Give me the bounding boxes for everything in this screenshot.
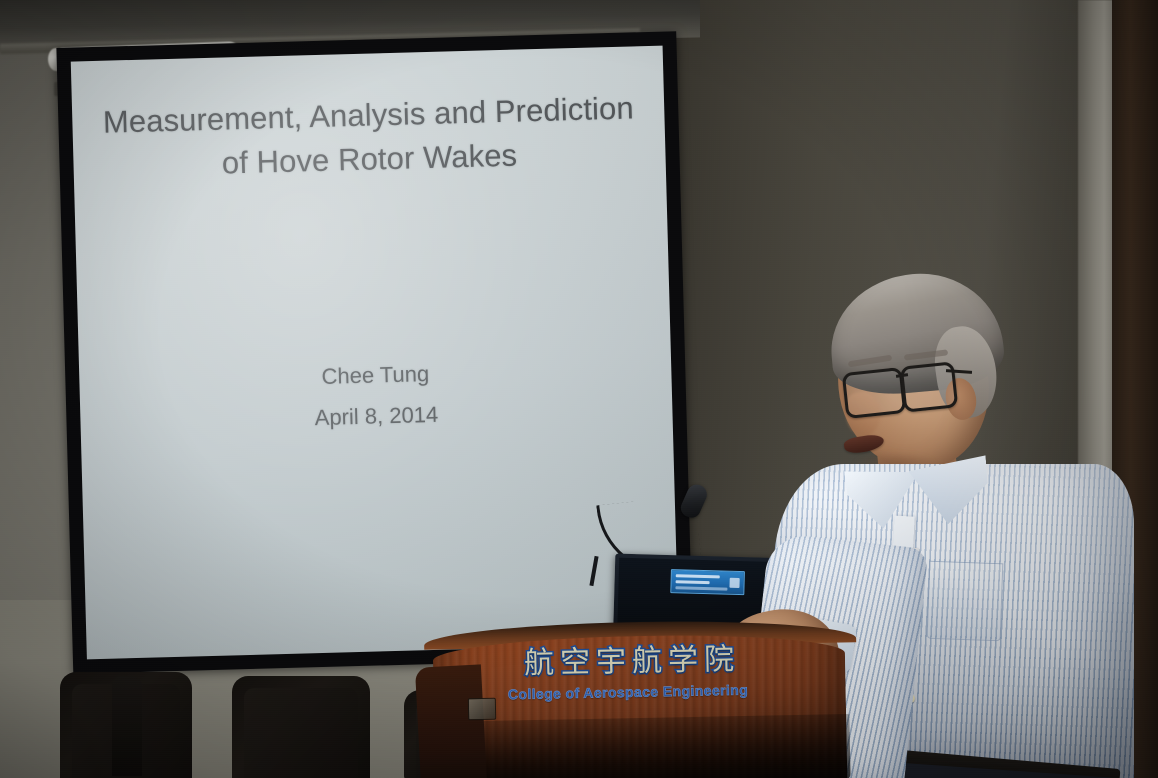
- projection-screen: Measurement, Analysis and Prediction of …: [56, 17, 699, 674]
- screen-frame: Measurement, Analysis and Prediction of …: [56, 31, 693, 674]
- lectern-side-panel: [415, 664, 487, 778]
- slide-byline: Chee Tung April 8, 2014: [89, 348, 663, 445]
- chair-armrest: [112, 676, 142, 776]
- lecture-photo-scene: Measurement, Analysis and Prediction of …: [0, 0, 1158, 778]
- lectern-chinese-name: 航空宇航学院: [482, 633, 783, 683]
- chair: [232, 676, 370, 778]
- shirt-pocket: [927, 561, 1004, 642]
- lectern-shadow: [429, 714, 850, 778]
- dialog-text-line: [676, 574, 720, 578]
- lectern: 航空宇航学院 College of Aerospace Engineering: [424, 622, 856, 778]
- dialog-button[interactable]: [729, 578, 739, 588]
- dialog-text-line: [676, 580, 710, 584]
- slide-title: Measurement, Analysis and Prediction of …: [82, 86, 656, 189]
- chair-back: [244, 688, 358, 778]
- screen-surface: Measurement, Analysis and Prediction of …: [71, 46, 679, 660]
- dialog-text-line: [675, 586, 727, 590]
- laptop-dialog-box[interactable]: [670, 569, 745, 595]
